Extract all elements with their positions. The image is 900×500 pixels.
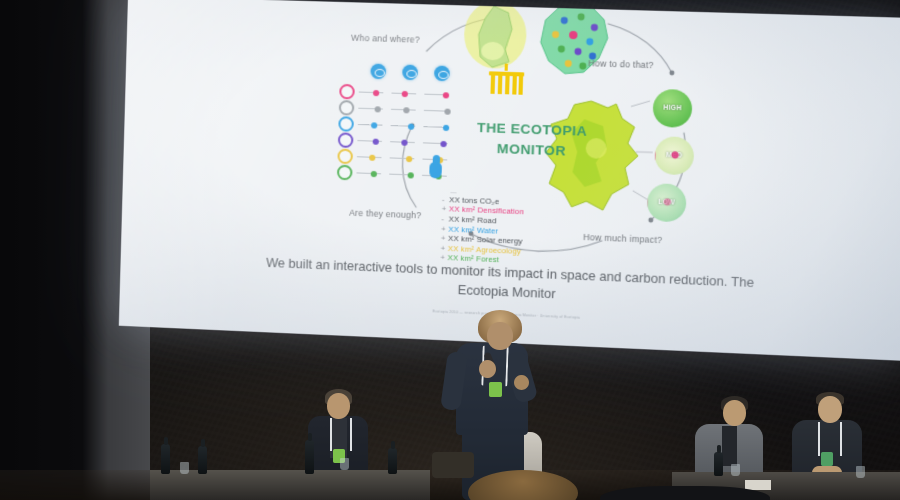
- slider-track[interactable]: [389, 169, 418, 181]
- scenario-badge-high-label: HIGH: [663, 104, 682, 112]
- row-toggle-icon[interactable]: [338, 132, 354, 148]
- matrix-row-water[interactable]: [338, 117, 452, 134]
- presentation-slide: HIGH MED LOW Who and where? How to do th…: [119, 0, 900, 361]
- slider-track[interactable]: [358, 103, 387, 115]
- slider-track[interactable]: [358, 119, 387, 131]
- hand-pointer-icon: [427, 155, 444, 180]
- cycle-label-who-and-where: Who and where?: [351, 33, 420, 45]
- stage-plant: [432, 452, 474, 478]
- slider-track[interactable]: [390, 136, 419, 148]
- conference-badge: [489, 382, 502, 397]
- water-bottle: [161, 444, 170, 474]
- face: [327, 393, 350, 419]
- water-bottle: [714, 452, 723, 476]
- scenario-badge-low-label: LOW: [658, 199, 675, 207]
- scenario-badge-med[interactable]: MED: [654, 136, 694, 175]
- conference-badge: [821, 452, 833, 466]
- drinking-glass: [731, 464, 740, 476]
- water-bottle: [305, 440, 314, 474]
- slider-track[interactable]: [391, 104, 420, 116]
- matrix-row-road[interactable]: [339, 101, 453, 118]
- row-toggle-icon[interactable]: [337, 148, 353, 164]
- slider-track[interactable]: [423, 121, 452, 133]
- map-with-markers: [533, 0, 617, 81]
- slider-track[interactable]: [357, 151, 386, 163]
- lanyard: [330, 418, 352, 451]
- row-toggle-icon[interactable]: [339, 100, 355, 116]
- control-matrix[interactable]: [337, 63, 459, 178]
- matrix-row-densification[interactable]: [339, 85, 453, 102]
- target-icon[interactable]: [434, 66, 450, 82]
- face: [818, 396, 842, 423]
- matrix-row-solar[interactable]: [338, 133, 452, 150]
- metrics-list: ... -XX tons CO₂e +XX km² Densification …: [440, 190, 598, 270]
- panel-table-left: [150, 470, 430, 500]
- slider-track[interactable]: [424, 105, 453, 117]
- slider-track[interactable]: [359, 86, 388, 98]
- layer-icon[interactable]: [370, 64, 386, 80]
- water-bottle: [388, 448, 397, 474]
- slide-center-title: THE ECOTOPIA MONITOR: [448, 117, 615, 163]
- slider-track[interactable]: [423, 137, 452, 149]
- drinking-glass: [180, 462, 189, 474]
- row-toggle-icon[interactable]: [339, 84, 355, 100]
- projection-screen: HIGH MED LOW Who and where? How to do th…: [119, 0, 900, 361]
- slider-track[interactable]: [390, 152, 419, 164]
- scenario-badge-med-label: MED: [666, 152, 682, 160]
- compare-icon[interactable]: [402, 65, 418, 81]
- slider-track[interactable]: [391, 88, 420, 100]
- lanyard: [818, 422, 842, 456]
- drinking-glass: [340, 458, 349, 470]
- row-toggle-icon[interactable]: [338, 116, 354, 132]
- face: [487, 322, 513, 350]
- audience-shoulder-foreground: [600, 486, 770, 500]
- slider-track[interactable]: [390, 120, 419, 132]
- water-bottle: [198, 446, 207, 474]
- brandenburg-gate-icon: [487, 63, 525, 97]
- scenario-badge-low[interactable]: LOW: [647, 183, 687, 222]
- cycle-label-how-to-do-that: How to do that?: [588, 58, 654, 70]
- row-toggle-icon[interactable]: [337, 165, 353, 181]
- photo-scene: HIGH MED LOW Who and where? How to do th…: [0, 0, 900, 500]
- slider-track[interactable]: [356, 167, 385, 179]
- matrix-top-icons: [370, 64, 449, 82]
- slider-track[interactable]: [357, 135, 386, 147]
- face: [723, 400, 746, 426]
- drinking-glass: [856, 466, 865, 478]
- slider-track[interactable]: [424, 89, 453, 101]
